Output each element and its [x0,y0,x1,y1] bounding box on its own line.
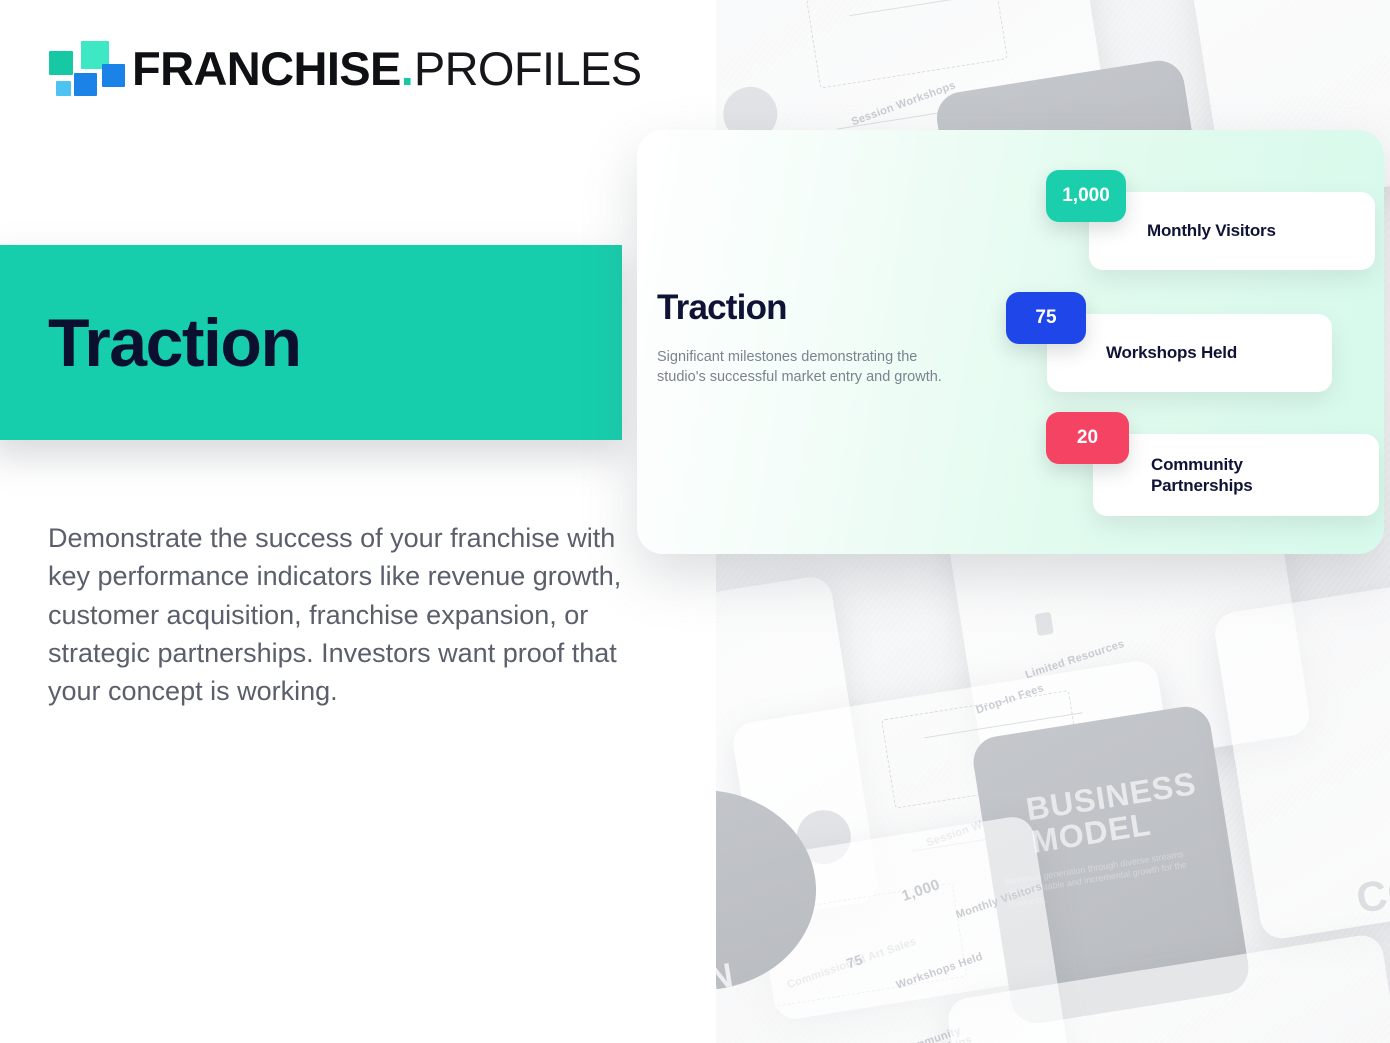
hero-banner: Traction [0,245,622,440]
bg-label: 75 [844,951,865,971]
metric-label-plate: Workshops Held [1047,314,1332,392]
brand-name-light: PROFILES [414,45,642,92]
logo-square-blue-1 [74,73,97,96]
metric-row-monthly-visitors[interactable]: 1,000 Monthly Visitors [1046,170,1375,270]
metric-label: Community Partnerships [1151,454,1253,497]
metric-label-plate: Monthly Visitors [1089,192,1375,270]
squares-logo-icon [48,40,110,96]
bg-dash-box [806,0,1008,89]
metric-label: Workshops Held [1106,342,1237,363]
preview-title: Traction [657,290,987,325]
metric-label-plate: Community Partnerships [1093,434,1379,516]
metric-label-line-2: Partnerships [1151,475,1253,496]
slide-preview-card[interactable]: Traction Significant milestones demonstr… [637,130,1384,554]
metric-label-line-1: Community [1151,454,1253,475]
brand-name-bold: FRANCHISE [132,45,401,92]
brand-name-dot: . [401,45,414,92]
metric-row-workshops-held[interactable]: 75 Workshops Held [1006,292,1332,392]
metric-row-community-partnerships[interactable]: 20 Community Partnerships [1046,412,1379,516]
page-title: Traction [48,309,301,377]
bg-label: 1,000 [900,876,942,905]
preview-text-block: Traction Significant milestones demonstr… [657,290,987,388]
metric-value-badge: 20 [1046,412,1129,464]
preview-subtitle: Significant milestones demonstrating the… [657,347,957,388]
metric-value-badge: 75 [1006,292,1086,344]
metric-label: Monthly Visitors [1147,220,1276,241]
metric-value-badge: 1,000 [1046,170,1126,222]
brand-wordmark: FRANCHISE . PROFILES [132,45,642,92]
logo-square-blue-2 [102,64,125,87]
slide-canvas: Drop-In Fees Session Workshops Commissio… [0,0,1390,1043]
hero-description: Demonstrate the success of your franchis… [48,519,628,711]
hourglass-icon [1035,612,1054,636]
bg-label: Workshops Held [895,951,985,992]
bg-label: Monthly Visitors [954,881,1043,922]
logo-square-lightblue [56,81,71,96]
brand-logo[interactable]: FRANCHISE . PROFILES [48,40,642,96]
logo-square-teal [49,51,73,75]
